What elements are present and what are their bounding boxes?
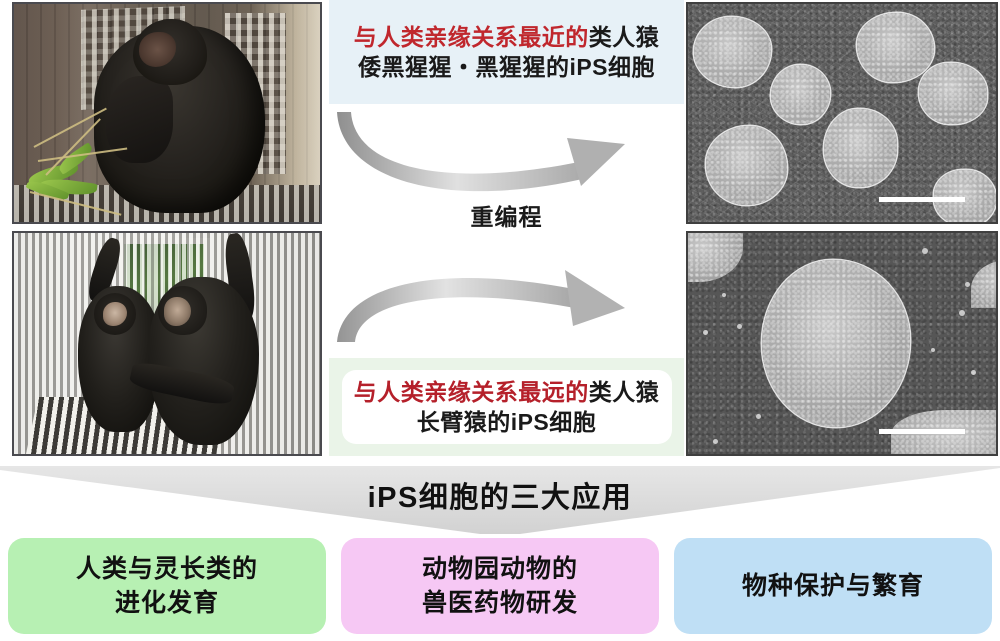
- colony: [919, 63, 987, 124]
- colony: [694, 17, 771, 87]
- app-evolution-line2: 进化发育: [115, 588, 219, 618]
- curved-arrow-up-right-icon: [329, 104, 684, 200]
- top-label-line1: 与人类亲缘关系最近的类人猿: [354, 24, 660, 50]
- figure-root: 与人类亲缘关系最近的类人猿 倭黑猩猩・黑猩猩的iPS细胞 重编程: [0, 0, 1000, 641]
- scale-bar: [879, 429, 965, 434]
- colony: [706, 126, 786, 204]
- main-colony: [762, 260, 910, 428]
- debris-speck: [722, 293, 726, 297]
- app-evolution-line1: 人类与灵长类的: [76, 554, 258, 584]
- reprogramming-arrow-down: [329, 264, 684, 360]
- gibbon-photo: [12, 231, 322, 456]
- bonobo-photo: [12, 2, 322, 224]
- bottom-species-label-inner: 与人类亲缘关系最远的类人猿 长臂猿的iPS细胞: [342, 370, 672, 444]
- ips-colonies-micrograph: [686, 2, 998, 224]
- banner-title: iPS细胞的三大应用: [0, 474, 1000, 516]
- top-label-line2: 倭黑猩猩・黑猩猩的iPS细胞: [358, 54, 655, 80]
- top-species-label: 与人类亲缘关系最近的类人猿 倭黑猩猩・黑猩猩的iPS细胞: [329, 0, 684, 104]
- bottom-species-label: 与人类亲缘关系最远的类人猿 长臂猿的iPS细胞: [329, 358, 684, 456]
- reprogramming-arrow-up: [329, 104, 684, 200]
- browse-leaves: [26, 139, 124, 209]
- colony: [771, 65, 830, 124]
- app-veterinary-line1: 动物园动物的: [422, 554, 578, 584]
- reprogramming-label: 重编程: [329, 198, 684, 232]
- colony: [824, 109, 898, 187]
- app-veterinary-line2: 兽医药物研发: [422, 588, 578, 618]
- debris-speck: [737, 324, 742, 329]
- scale-bar: [879, 197, 965, 202]
- bottom-label-line1: 与人类亲缘关系最远的类人猿: [354, 379, 660, 405]
- curved-arrow-down-right-icon: [329, 264, 684, 360]
- single-ips-colony-micrograph: [686, 231, 998, 456]
- bottom-label-line2: 长臂猿的iPS细胞: [417, 409, 597, 435]
- application-box-evolution: 人类与灵长类的 进化发育: [8, 538, 326, 634]
- debris-speck: [756, 414, 761, 419]
- application-box-veterinary: 动物园动物的 兽医药物研发: [341, 538, 659, 634]
- application-box-conservation: 物种保护与繁育: [674, 538, 992, 634]
- debris-speck: [965, 282, 970, 287]
- debris-speck: [713, 439, 718, 444]
- app-conservation-line1: 物种保护与繁育: [742, 571, 924, 601]
